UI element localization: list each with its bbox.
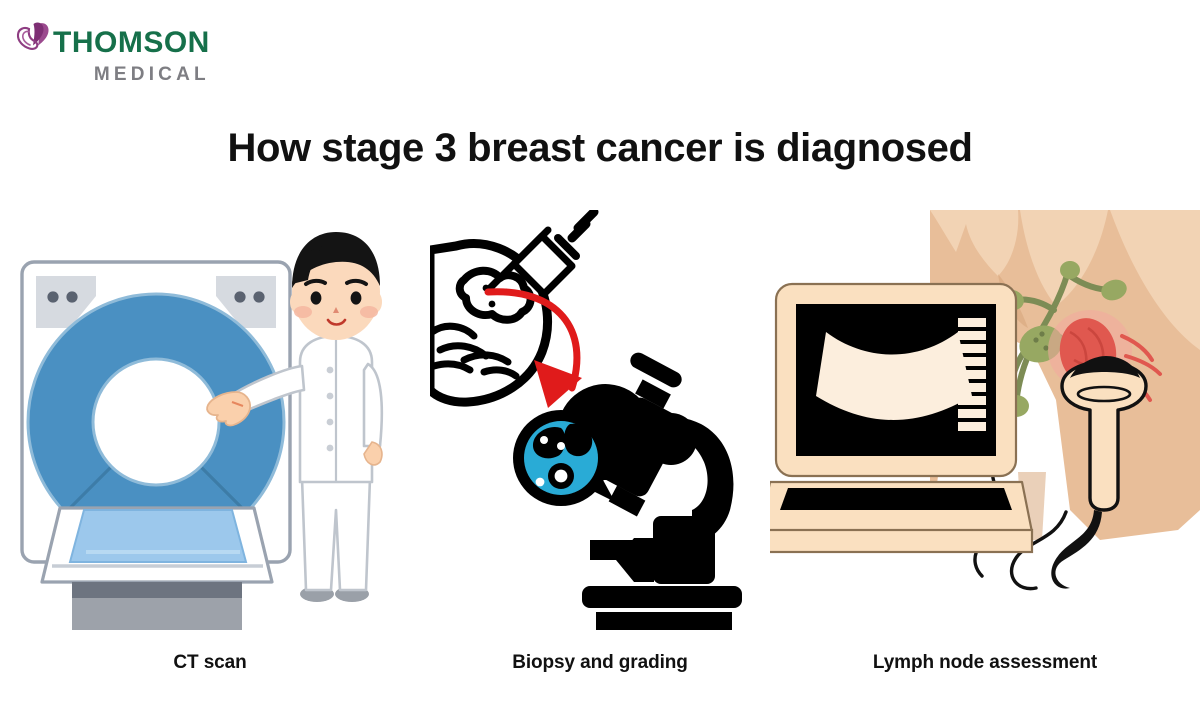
- breast-biopsy-needle-and-microscope-illustration: [430, 210, 770, 630]
- ct-scanner-with-doctor-illustration: [0, 210, 420, 630]
- caption-ct-scan: CT scan: [0, 652, 420, 674]
- brand-logo: THOMSON MEDICAL: [16, 20, 210, 84]
- brand-wordmark: THOMSON MEDICAL: [53, 20, 210, 84]
- caption-lymph-node-assessment: Lymph node assessment: [770, 652, 1200, 674]
- caption-biopsy-and-grading: Biopsy and grading: [430, 652, 770, 674]
- panel-biopsy-and-grading: [430, 210, 770, 630]
- brand-subtitle: MEDICAL: [53, 65, 210, 84]
- panel-lymph-node-assessment: [770, 210, 1200, 630]
- butterfly-heart-icon: [16, 20, 50, 68]
- ultrasound-monitor-icon: [770, 284, 1032, 552]
- brand-name: THOMSON: [53, 28, 210, 58]
- page-title: How stage 3 breast cancer is diagnosed: [0, 126, 1200, 171]
- panel-ct-scan: [0, 210, 420, 630]
- ultrasound-machine-and-armpit-lymph-nodes-illustration: [770, 210, 1200, 630]
- grayscale-bar-icon: [958, 318, 986, 431]
